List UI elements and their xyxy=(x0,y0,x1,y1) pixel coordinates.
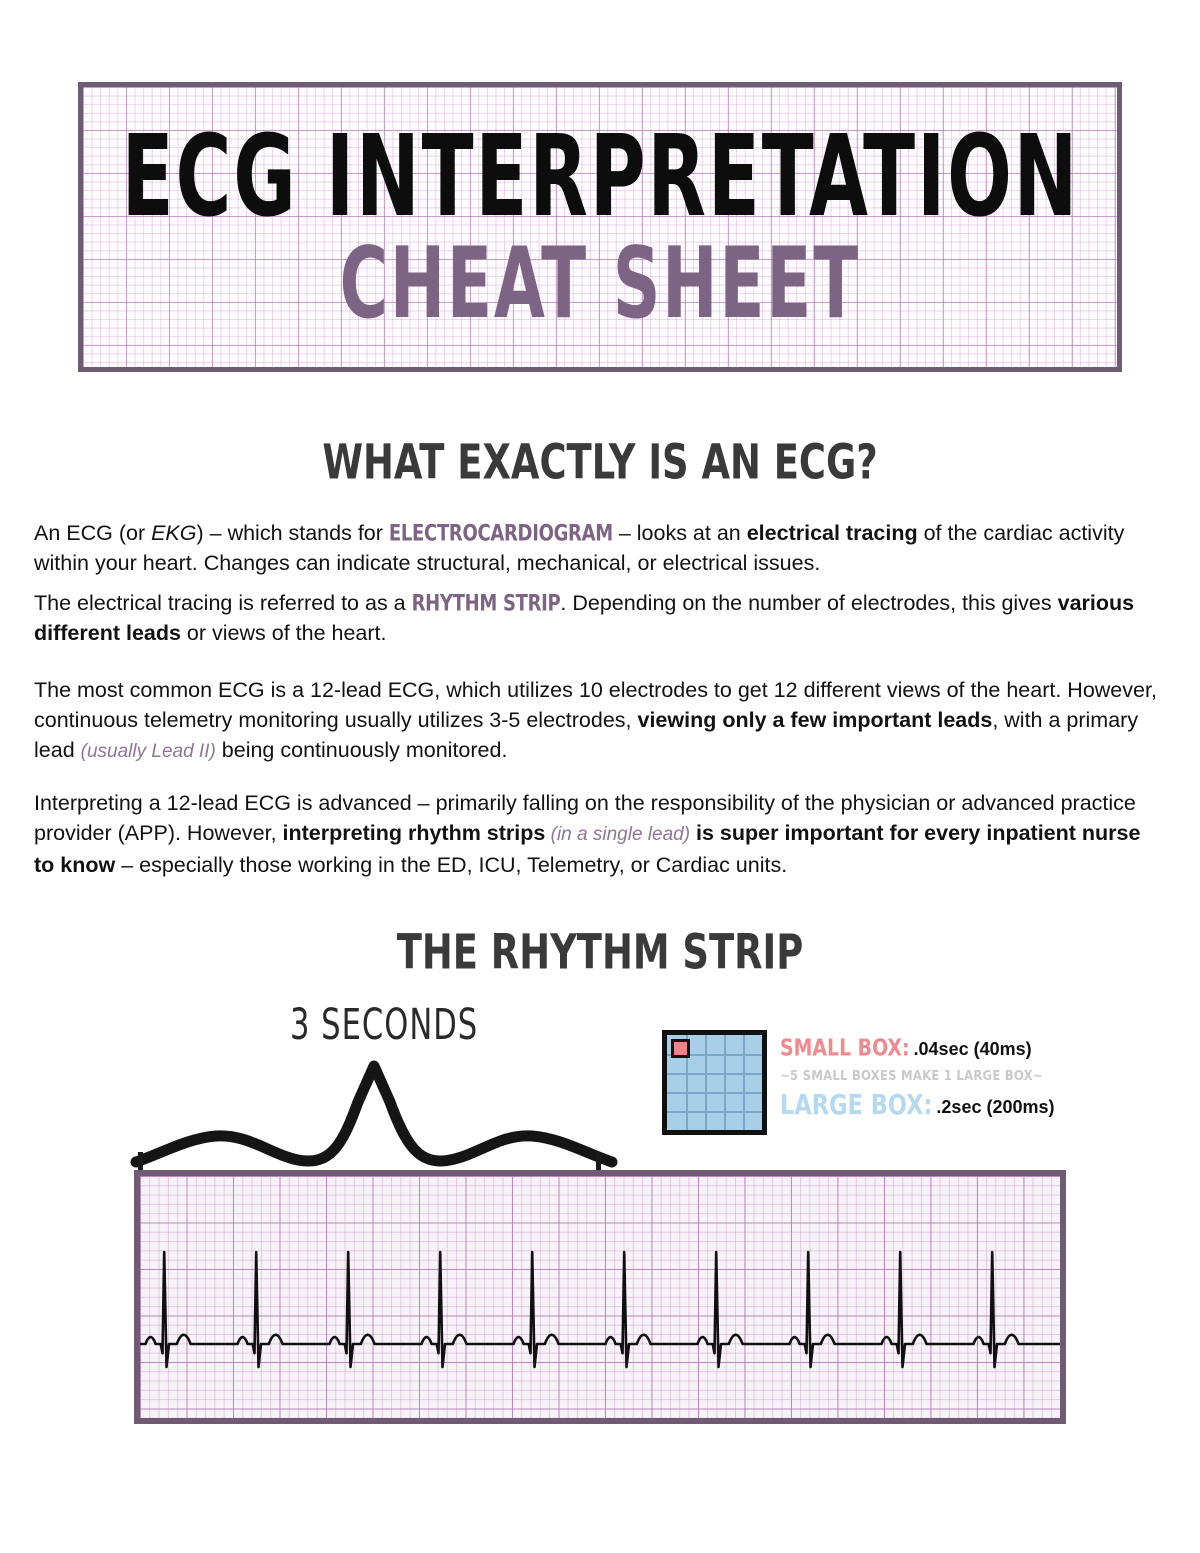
legend-grid-line-vertical xyxy=(705,1035,707,1130)
heading-the-rhythm-strip: THE RHYTHM STRIP xyxy=(0,924,1200,981)
paragraph-what-is-ecg-1: An ECG (or EKG) – which stands for ELECT… xyxy=(34,518,1162,578)
text-run-normal: . Depending on the number of electrodes,… xyxy=(560,591,1057,615)
legend-large-box-key: LARGE BOX: xyxy=(780,1091,932,1119)
legend-grid-line-vertical xyxy=(724,1035,726,1130)
bracket-tick-left xyxy=(138,1152,143,1170)
box-size-legend: SMALL BOX:.04sec (40ms) ~5 SMALL BOXES M… xyxy=(662,1028,1002,1146)
paragraph-what-is-ecg-4: Interpreting a 12-lead ECG is advanced –… xyxy=(34,788,1162,880)
text-run-normal: being continuously monitored. xyxy=(216,738,508,762)
text-run-accent-italic: (in a single lead) xyxy=(545,824,690,845)
text-run-normal: – especially those working in the ED, IC… xyxy=(115,853,787,877)
ecg-trace xyxy=(140,1176,1060,1418)
ecg-rhythm-strip-chart xyxy=(134,1170,1066,1424)
text-run-accent-caps: RHYTHM STRIP xyxy=(412,587,561,620)
legend-grid-line-horizontal xyxy=(667,1111,762,1113)
page-title-line-1: ECG INTERPRETATION xyxy=(121,121,1079,233)
three-seconds-label: 3 SECONDS xyxy=(290,1000,478,1050)
legend-grid-line-horizontal xyxy=(667,1092,762,1094)
header-banner: ECG INTERPRETATION CHEAT SHEET xyxy=(78,82,1122,372)
legend-grid-box-icon xyxy=(662,1030,767,1135)
legend-small-box-value: .04sec (40ms) xyxy=(914,1039,1032,1059)
legend-middle-note: ~5 SMALL BOXES MAKE 1 LARGE BOX~ xyxy=(780,1070,1043,1084)
three-seconds-bracket-icon xyxy=(130,1050,620,1175)
legend-row-large-box: LARGE BOX:.2sec (200ms) xyxy=(780,1092,1005,1117)
bracket-tick-right xyxy=(596,1152,601,1170)
text-run-normal: – looks at an xyxy=(613,521,747,545)
text-run-bold: viewing only a few important leads xyxy=(638,708,993,732)
text-run-normal: An ECG (or xyxy=(34,521,151,545)
legend-grid-line-horizontal xyxy=(667,1073,762,1075)
text-run-italic: EKG xyxy=(151,521,196,545)
heading-what-exactly-is-an-ecg: WHAT EXACTLY IS AN ECG? xyxy=(0,434,1200,491)
text-run-bold: electrical tracing xyxy=(747,521,918,545)
page-title-line-2: CHEAT SHEET xyxy=(340,235,861,333)
text-run-bold: interpreting rhythm strips xyxy=(283,821,546,845)
legend-small-box-key: SMALL BOX: xyxy=(780,1037,910,1060)
paragraph-what-is-ecg-2: The electrical tracing is referred to as… xyxy=(34,588,1162,648)
legend-row-middle-note: ~5 SMALL BOXES MAKE 1 LARGE BOX~ xyxy=(780,1068,1005,1084)
legend-row-small-box: SMALL BOX:.04sec (40ms) xyxy=(780,1038,1005,1059)
text-run-normal: The electrical tracing is referred to as… xyxy=(34,591,412,615)
legend-grid-line-vertical xyxy=(743,1035,745,1130)
paragraph-what-is-ecg-3: The most common ECG is a 12-lead ECG, wh… xyxy=(34,675,1162,767)
legend-small-box-highlight xyxy=(671,1039,690,1058)
legend-large-box-value: .2sec (200ms) xyxy=(936,1097,1054,1117)
text-run-normal: ) – which stands for xyxy=(197,521,389,545)
text-run-accent-italic: (usually Lead II) xyxy=(81,741,216,762)
text-run-accent-caps: ELECTROCARDIOGRAM xyxy=(389,517,613,550)
text-run-normal: or views of the heart. xyxy=(181,621,387,645)
legend-text-block: SMALL BOX:.04sec (40ms) ~5 SMALL BOXES M… xyxy=(780,1028,1005,1117)
